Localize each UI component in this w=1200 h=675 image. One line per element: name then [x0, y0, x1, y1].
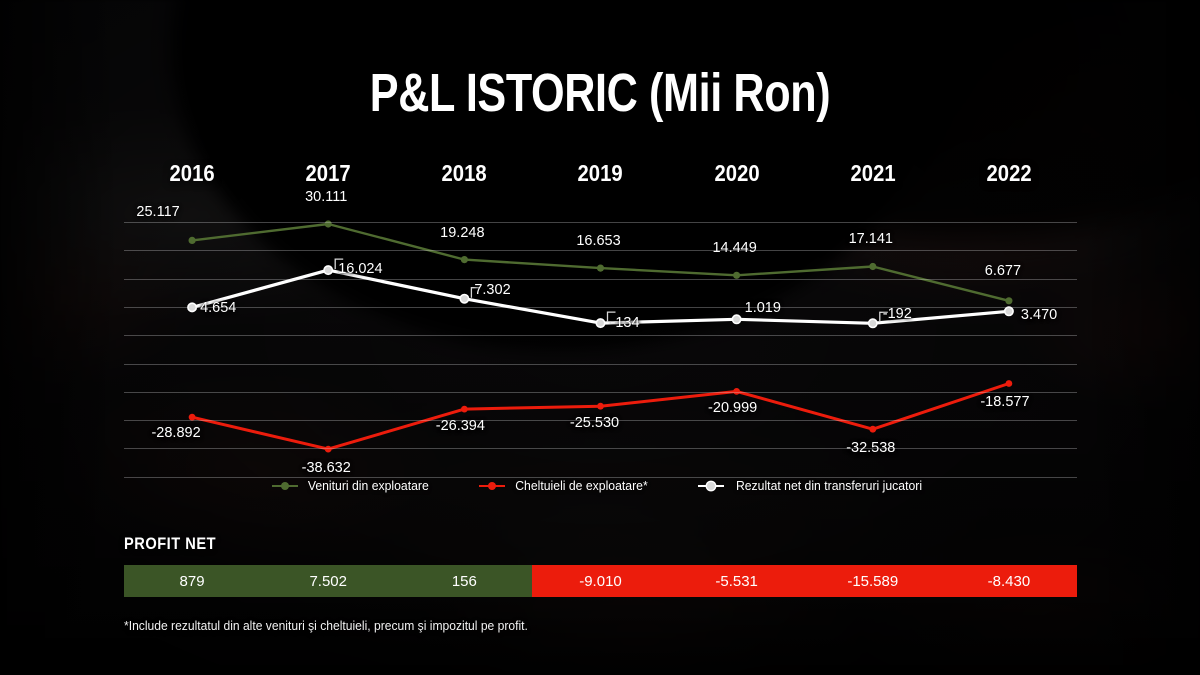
- grid-line: [124, 335, 1077, 336]
- data-label: -20.999: [708, 400, 757, 416]
- data-label: -28.892: [151, 425, 200, 441]
- chart-legend: Venituri din exploatareCheltuieli de exp…: [0, 478, 1200, 493]
- legend-label: Cheltuieli de exploatare*: [515, 478, 647, 493]
- year-label-2017: 2017: [268, 160, 388, 192]
- data-point: [596, 319, 604, 327]
- data-point: [869, 263, 876, 270]
- data-label: -18.577: [980, 394, 1029, 410]
- grid-line: [124, 222, 1077, 223]
- chart-plot-area: 25.11730.11119.24816.65314.44917.1416.67…: [124, 208, 1077, 470]
- footnote: *Include rezultatul din alte venituri şi…: [124, 618, 528, 633]
- grid-line: [124, 448, 1077, 449]
- data-label: -134: [611, 315, 640, 331]
- grid-line: [124, 307, 1077, 308]
- profit-net-cell: -15.589: [805, 565, 941, 597]
- legend-item-3[interactable]: Rezultat net din transferuri jucatori: [698, 478, 928, 493]
- profit-net-value: 156: [452, 573, 477, 590]
- data-point: [1005, 307, 1013, 315]
- year-label-2022: 2022: [949, 160, 1069, 192]
- profit-net-value: -5.531: [715, 573, 758, 590]
- data-point: [869, 426, 876, 433]
- data-label: 17.141: [849, 231, 893, 247]
- data-label: 6.677: [985, 263, 1021, 279]
- year-label-2019: 2019: [541, 160, 661, 192]
- data-label: 25.117: [136, 204, 179, 220]
- data-label: 1.019: [745, 300, 781, 316]
- legend-marker-icon: [479, 480, 505, 492]
- data-point: [325, 446, 332, 453]
- profit-net-cell: -5.531: [669, 565, 805, 597]
- grid-line: [124, 392, 1077, 393]
- grid-line: [124, 279, 1077, 280]
- grid-line: [124, 420, 1077, 421]
- data-point: [461, 256, 468, 263]
- data-label: 4.654: [200, 300, 236, 316]
- profit-net-cell: 7.502: [260, 565, 396, 597]
- data-label: -38.632: [302, 460, 351, 476]
- data-point: [1005, 297, 1012, 304]
- page-title: P&L ISTORIC (Mii Ron): [120, 62, 1080, 124]
- grid-line: [124, 250, 1077, 251]
- year-label-2020: 2020: [677, 160, 797, 192]
- year-label-2021: 2021: [813, 160, 933, 192]
- data-label: 7.302: [474, 282, 510, 298]
- year-label-2016: 2016: [132, 160, 252, 192]
- year-header-row: 2016201720182019202020212022: [124, 160, 1077, 192]
- legend-label: Rezultat net din transferuri jucatori: [736, 478, 922, 493]
- data-point: [732, 315, 740, 323]
- data-label: 16.024: [338, 261, 382, 277]
- data-label: -192: [883, 306, 912, 322]
- data-point: [189, 237, 196, 244]
- slide-canvas: P&L ISTORIC (Mii Ron) 201620172018201920…: [0, 0, 1200, 675]
- data-point: [1006, 380, 1013, 387]
- profit-net-value: 879: [180, 573, 205, 590]
- data-point: [869, 319, 877, 327]
- data-point: [460, 295, 468, 303]
- profit-net-row: 8797.502156-9.010-5.531-15.589-8.430: [124, 565, 1077, 597]
- data-label: 30.111: [305, 189, 347, 205]
- profit-net-value: -9.010: [579, 573, 622, 590]
- profit-net-cell: 879: [124, 565, 260, 597]
- data-label: 19.248: [440, 225, 484, 241]
- data-label: 3.470: [1021, 307, 1057, 323]
- grid-line: [124, 364, 1077, 365]
- legend-item-1[interactable]: Venituri din exploatare: [272, 478, 433, 493]
- data-point: [461, 406, 468, 413]
- year-label-2018: 2018: [404, 160, 524, 192]
- profit-net-value: -15.589: [847, 573, 898, 590]
- data-label: -25.530: [570, 415, 619, 431]
- profit-net-cell: -9.010: [532, 565, 668, 597]
- data-point: [597, 403, 604, 410]
- legend-label: Venituri din exploatare: [308, 478, 429, 493]
- profit-net-cell: -8.430: [941, 565, 1077, 597]
- data-point: [597, 265, 604, 272]
- legend-marker-icon: [698, 480, 724, 492]
- legend-item-2[interactable]: Cheltuieli de exploatare*: [479, 478, 652, 493]
- profit-net-heading: PROFIT NET: [124, 534, 216, 554]
- profit-net-cell: 156: [396, 565, 532, 597]
- profit-net-value: 7.502: [309, 573, 347, 590]
- legend-marker-icon: [272, 480, 298, 492]
- data-point: [733, 272, 740, 279]
- data-label: 14.449: [712, 240, 756, 256]
- data-label: 16.653: [576, 233, 620, 249]
- data-point: [324, 266, 332, 274]
- profit-net-value: -8.430: [988, 573, 1031, 590]
